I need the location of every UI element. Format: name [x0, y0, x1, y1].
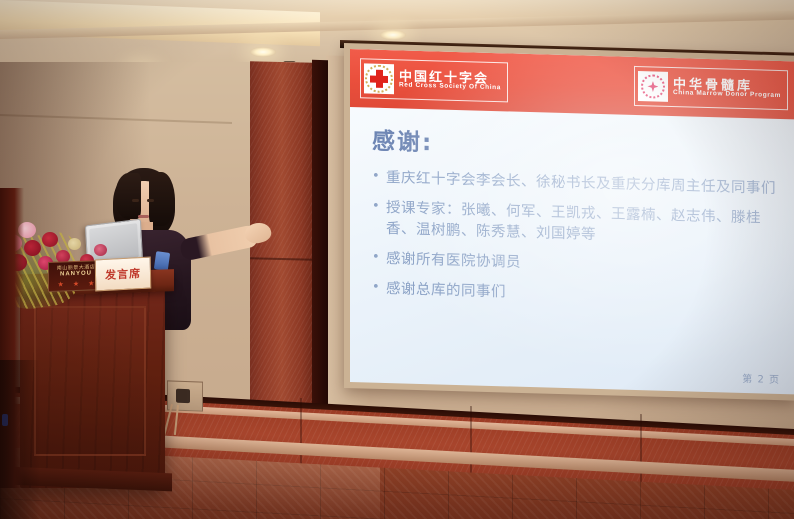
- plug-icon: [176, 389, 190, 403]
- marrow-flower-glyph-icon: [641, 74, 665, 99]
- podium: [20, 288, 165, 488]
- wainscot-seam: [470, 406, 472, 478]
- speaker-sign-label: 发言席: [105, 265, 141, 283]
- downlight-icon: [380, 30, 406, 40]
- pilaster-dark-edge: [312, 60, 328, 460]
- star-icon: ★: [73, 280, 79, 288]
- hair-left: [115, 173, 141, 219]
- slide-bullet-list: 重庆红十字会李会长、徐秘书长及重庆分库周主任及同事们 授课专家：张曦、何军、王凯…: [372, 168, 780, 311]
- cross-glyph-icon: [368, 68, 390, 91]
- slide-body: 感谢: 重庆红十字会李会长、徐秘书长及重庆分库周主任及同事们 授课专家：张曦、何…: [350, 107, 794, 311]
- list-item: 感谢总库的同事们: [372, 279, 780, 311]
- slide-title: 感谢:: [372, 122, 780, 167]
- flower: [94, 244, 107, 256]
- list-item: 感谢所有医院协调员: [372, 249, 780, 281]
- podium-front-panel: [34, 306, 146, 456]
- blue-object: [2, 414, 8, 426]
- mouth: [138, 215, 149, 218]
- flower: [24, 240, 41, 256]
- wainscot-seam: [300, 398, 302, 470]
- marrow-donor-logo: 中华骨髓库 China Marrow Donor Program: [634, 66, 788, 110]
- eye-left: [132, 199, 139, 202]
- marrow-donor-icon: [638, 71, 668, 102]
- wainscot-seam: [640, 414, 642, 486]
- list-item: 重庆红十字会李会长、徐秘书长及重庆分库周主任及同事们: [372, 168, 780, 200]
- star-icon: ★: [58, 280, 64, 288]
- conference-room-photo: 中国红十字会 Red Cross Society Of China 中华骨髓库 …: [0, 0, 794, 519]
- wall-power-socket[interactable]: [167, 380, 203, 411]
- projection-screen: 中国红十字会 Red Cross Society Of China 中华骨髓库 …: [350, 49, 794, 394]
- flower: [42, 232, 58, 247]
- flower: [68, 238, 81, 250]
- red-cross-logo-text: 中国红十字会 Red Cross Society Of China: [399, 69, 501, 92]
- name-badge: [154, 251, 170, 271]
- red-cross-icon: [364, 63, 394, 94]
- dark-corner: [0, 360, 40, 519]
- list-item: 授课专家：张曦、何军、王凯戎、王露楠、赵志伟、滕桂香、温树鹏、陈秀慧、刘国婷等: [372, 198, 780, 251]
- eye-right: [147, 199, 154, 202]
- star-icon: ★: [88, 279, 94, 287]
- downlight-icon: [250, 47, 276, 57]
- red-cross-logo-en: Red Cross Society Of China: [399, 83, 501, 93]
- marrow-donor-logo-text: 中华骨髓库 China Marrow Donor Program: [673, 77, 781, 100]
- red-cross-logo: 中国红十字会 Red Cross Society Of China: [360, 58, 508, 102]
- marrow-donor-logo-en: China Marrow Donor Program: [673, 90, 781, 100]
- speaker-podium-sign: 发言席: [95, 257, 152, 292]
- slide-page-number: 第 2 页: [742, 370, 780, 386]
